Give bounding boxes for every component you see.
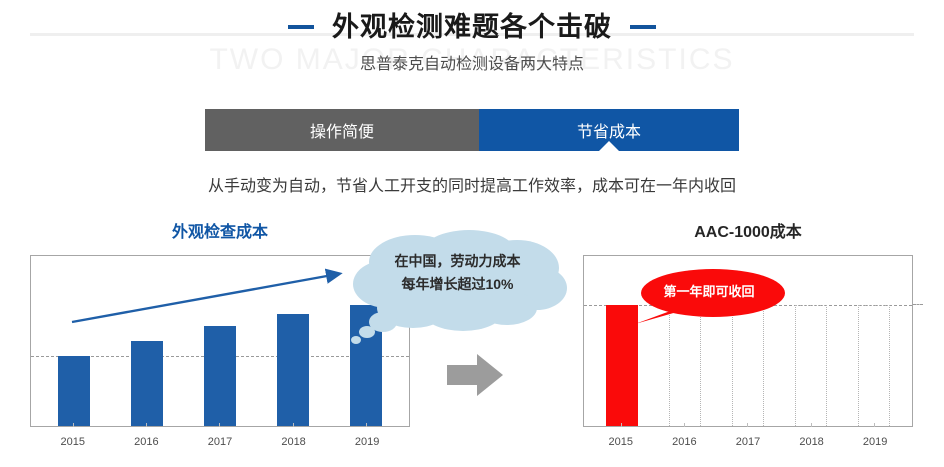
tab-bar: 操作简便 节省成本 — [205, 109, 739, 151]
cloud-callout-line2: 每年增长超过10% — [341, 273, 574, 296]
axis-label-2017: 2017 — [200, 436, 240, 448]
bar-2015 — [58, 356, 90, 426]
axis-tick-2016 — [684, 423, 685, 427]
axis-label-2017: 2017 — [728, 436, 768, 448]
tab-operation-simple-label: 操作简便 — [310, 118, 374, 142]
chart-left-axis-ticks — [31, 423, 409, 427]
bar-2017 — [204, 326, 236, 426]
axis-tick-2015 — [621, 423, 622, 427]
axis-label-2016: 2016 — [126, 436, 166, 448]
bar-2016 — [131, 341, 163, 426]
red-callout-text: 第一年即可收回 — [629, 281, 789, 300]
axis-label-2018: 2018 — [792, 436, 832, 448]
title-dash-right-icon — [630, 25, 656, 29]
bar-2018 — [795, 305, 827, 426]
bar-2019 — [858, 305, 890, 426]
axis-label-2015: 2015 — [53, 436, 93, 448]
lead-description-text: 从手动变为自动，节省人工开支的同时提高工作效率，成本可在一年内收回 — [0, 172, 944, 196]
axis-tick-2015 — [73, 423, 74, 427]
title-dash-left-icon — [288, 25, 314, 29]
page-header: TWO MAJOR CHARACTERISTICS 外观检测难题各个击破 思普泰… — [0, 0, 944, 96]
chart-right-axis-labels: 20152016201720182019 — [583, 436, 913, 448]
tab-save-cost-label: 节省成本 — [577, 118, 641, 142]
cloud-callout-text: 在中国，劳动力成本 每年增长超过10% — [341, 250, 574, 296]
bar-2018 — [277, 314, 309, 426]
axis-tick-2016 — [146, 423, 147, 427]
page-subtitle: 思普泰克自动检测设备两大特点 — [0, 50, 944, 74]
tab-save-cost[interactable]: 节省成本 — [479, 109, 739, 151]
chart-right-title: AAC-1000成本 — [583, 218, 913, 242]
cloud-callout: 在中国，劳动力成本 每年增长超过10% — [341, 228, 574, 346]
page-title-row: 外观检测难题各个击破 — [0, 10, 944, 44]
chart-right-axis-ticks — [584, 423, 912, 427]
chart-right-reference-line-extension — [913, 304, 923, 305]
axis-tick-2018 — [811, 423, 812, 427]
tab-active-notch-icon — [598, 141, 620, 152]
tab-operation-simple[interactable]: 操作简便 — [205, 109, 479, 151]
chart-left-axis-labels: 20152016201720182019 — [30, 436, 410, 448]
page-title: 外观检测难题各个击破 — [332, 10, 612, 44]
axis-label-2016: 2016 — [664, 436, 704, 448]
cloud-callout-line1: 在中国，劳动力成本 — [341, 250, 574, 273]
axis-tick-2018 — [293, 423, 294, 427]
axis-tick-2019 — [874, 423, 875, 427]
red-callout: 第一年即可收回 — [629, 268, 789, 326]
axis-label-2019: 2019 — [855, 436, 895, 448]
axis-tick-2019 — [366, 423, 367, 427]
axis-tick-2017 — [219, 423, 220, 427]
axis-tick-2017 — [747, 423, 748, 427]
axis-label-2015: 2015 — [601, 436, 641, 448]
axis-label-2018: 2018 — [274, 436, 314, 448]
right-arrow-icon — [447, 352, 503, 398]
axis-label-2019: 2019 — [347, 436, 387, 448]
